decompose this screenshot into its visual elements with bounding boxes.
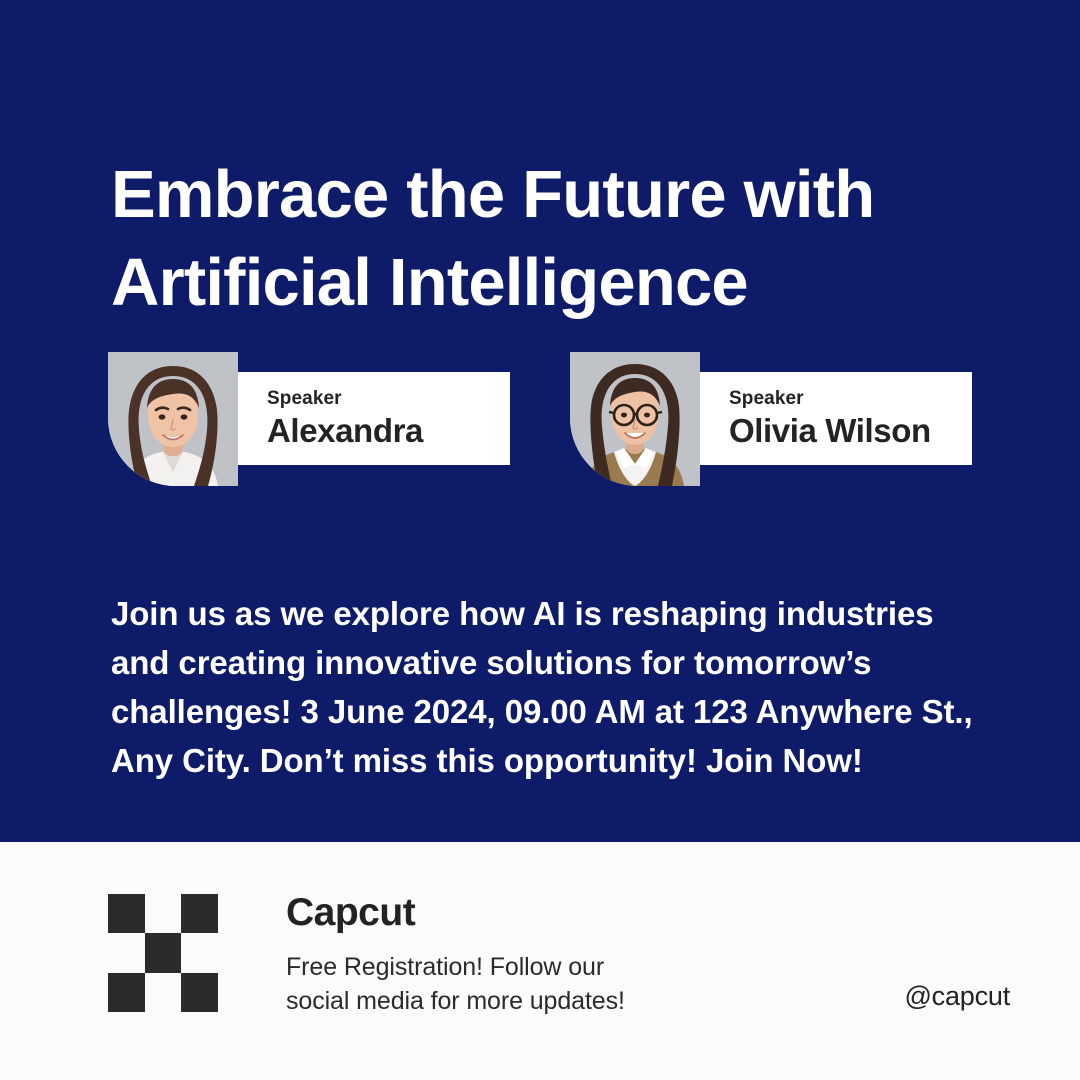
speaker-name-label: Alexandra <box>267 412 510 450</box>
brand-text-block: Capcut Free Registration! Follow our soc… <box>286 890 880 1018</box>
footer-content: Capcut Free Registration! Follow our soc… <box>108 890 1010 1018</box>
page-title: Embrace the Future with Artificial Intel… <box>111 151 1011 327</box>
speaker-avatar <box>570 352 700 486</box>
brand-tagline: Free Registration! Follow our social med… <box>286 950 880 1018</box>
speaker-label-box: Speaker Olivia Wilson <box>700 372 972 465</box>
checkerboard-x-logo-icon <box>108 894 218 1012</box>
social-handle[interactable]: @capcut <box>904 980 1010 1018</box>
speaker-list: Speaker Alexandra <box>0 352 1080 492</box>
speaker-card-olivia-wilson[interactable]: Speaker Olivia Wilson <box>570 352 972 486</box>
speaker-role-label: Speaker <box>729 387 972 410</box>
poster-canvas: Embrace the Future with Artificial Intel… <box>0 0 1080 1080</box>
hero-panel: Embrace the Future with Artificial Intel… <box>0 0 1080 842</box>
speaker-role-label: Speaker <box>267 387 510 410</box>
event-description: Join us as we explore how AI is reshapin… <box>111 589 991 785</box>
brand-name: Capcut <box>286 890 880 936</box>
speaker-name-label: Olivia Wilson <box>729 412 972 450</box>
speaker-label-box: Speaker Alexandra <box>238 372 510 465</box>
speaker-avatar <box>108 352 238 486</box>
speaker-card-alexandra[interactable]: Speaker Alexandra <box>108 352 510 486</box>
footer-bar: Capcut Free Registration! Follow our soc… <box>0 842 1080 1080</box>
